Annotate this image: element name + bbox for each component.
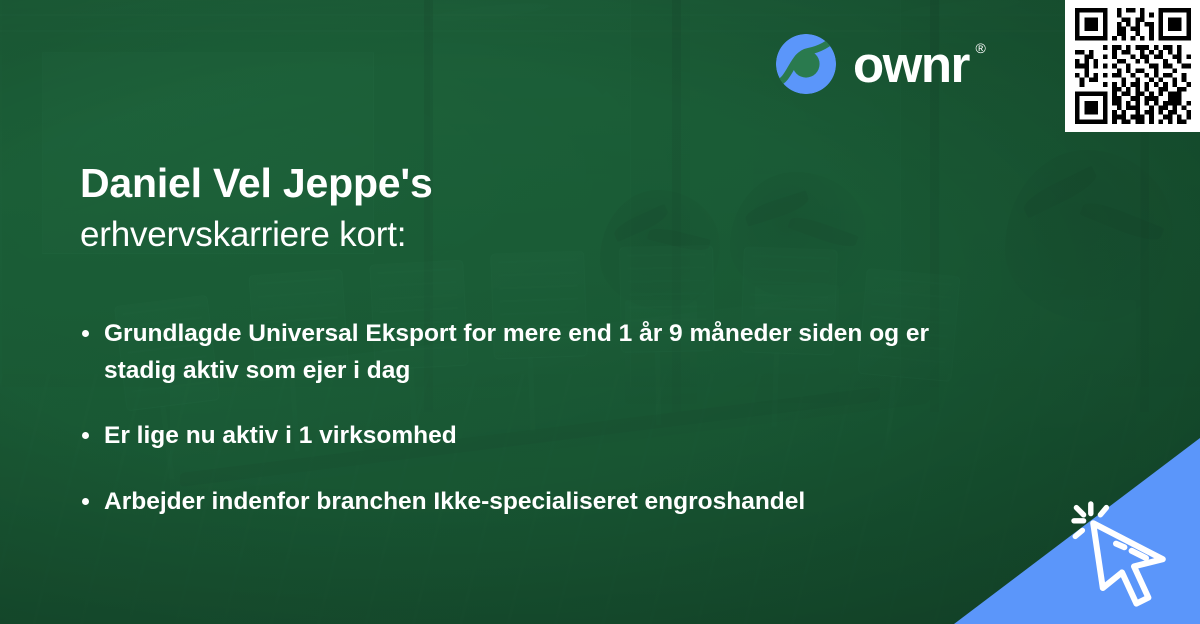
brand-name-text: ownr bbox=[853, 36, 969, 93]
headline-block: Daniel Vel Jeppe's erhvervskarriere kort… bbox=[80, 158, 980, 258]
bullet-dot-icon bbox=[82, 330, 89, 337]
brand-name: ownr ® bbox=[853, 39, 969, 90]
bullet-dot-icon bbox=[82, 498, 89, 505]
list-item-label: Er lige nu aktiv i 1 virksomhed bbox=[104, 422, 457, 449]
ownr-circle-swirl-logo-icon bbox=[775, 33, 837, 95]
list-item: Er lige nu aktiv i 1 virksomhed bbox=[82, 417, 962, 454]
page-title: Daniel Vel Jeppe's bbox=[80, 158, 980, 208]
corner-decoration bbox=[954, 438, 1200, 624]
career-card: ownr ® bbox=[0, 0, 1200, 624]
click-cursor-icon bbox=[1062, 492, 1182, 612]
page-subtitle: erhvervskarriere kort: bbox=[80, 212, 980, 258]
qr-code-panel[interactable] bbox=[1065, 0, 1200, 132]
career-facts-list: Grundlagde Universal Eksport for mere en… bbox=[82, 315, 962, 520]
bullet-dot-icon bbox=[82, 432, 89, 439]
brand-lockup: ownr ® bbox=[775, 33, 969, 95]
registered-trademark-icon: ® bbox=[976, 41, 986, 55]
list-item-label: Arbejder indenfor branchen Ikke-speciali… bbox=[104, 488, 805, 515]
list-item-label: Grundlagde Universal Eksport for mere en… bbox=[104, 320, 929, 384]
list-item: Arbejder indenfor branchen Ikke-speciali… bbox=[82, 483, 962, 520]
qr-code-icon[interactable] bbox=[1075, 8, 1191, 124]
blue-corner-triangle bbox=[954, 438, 1200, 624]
list-item: Grundlagde Universal Eksport for mere en… bbox=[82, 315, 962, 389]
